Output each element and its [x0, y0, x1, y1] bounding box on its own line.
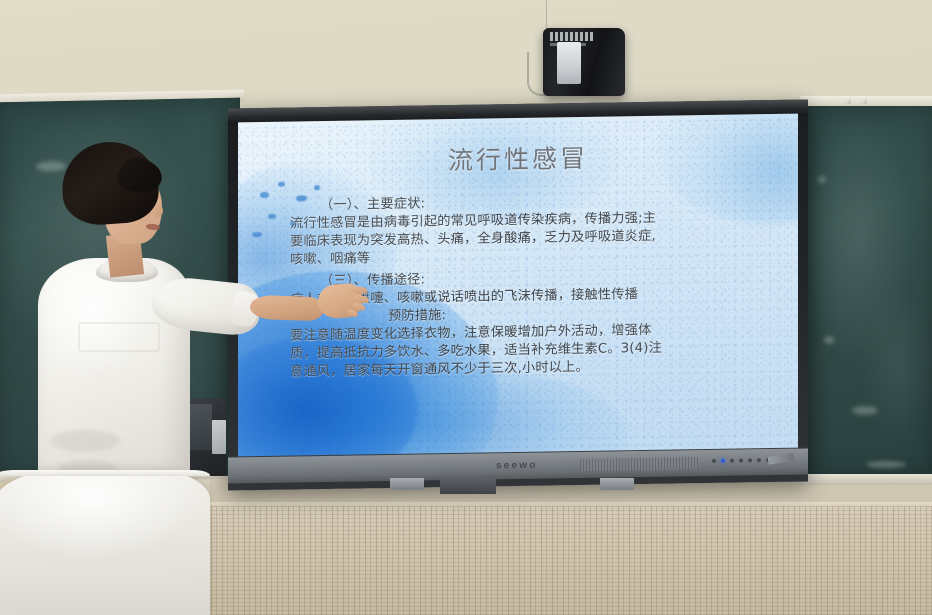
device-lens	[557, 42, 581, 84]
slide-heading-1: （一）、主要症状:	[320, 195, 425, 215]
slide-paragraph-3: 要注意随温度变化选择衣物，注意保暖增加户外活动，增强体 质，提高抵抗力多饮水、多…	[290, 322, 662, 382]
wall-bracket	[600, 478, 634, 490]
indicator-led	[748, 458, 752, 462]
display-screen[interactable]: 流行性感冒 （一）、主要症状: 流行性感冒是由病毒引起的常见呼吸道传染疾病，传播…	[238, 114, 798, 463]
blackboard-right	[806, 106, 932, 478]
ceiling-projector-device	[543, 28, 625, 96]
indicator-led	[757, 458, 761, 462]
device-brand-label	[550, 32, 594, 41]
display-mount-stand	[440, 478, 496, 494]
stylus-pen[interactable]	[768, 453, 795, 465]
slide-paragraph-1: 流行性感冒是由病毒引起的常见呼吸道传染疾病，传播力强;主 要临床表现为突发高热、…	[290, 210, 656, 270]
chalk-tray-right	[798, 474, 932, 485]
classroom-photo: 流行性感冒 （一）、主要症状: 流行性感冒是由病毒引起的常见呼吸道传染疾病，传播…	[0, 0, 932, 615]
frame-screw	[862, 99, 867, 104]
acoustic-wall-panel	[200, 506, 932, 615]
indicator-led-active	[721, 459, 725, 463]
frame-screw	[846, 99, 851, 104]
ceiling-wire	[546, 0, 547, 30]
indicator-led	[739, 458, 743, 462]
indicator-led	[712, 459, 716, 463]
seewo-brand-logo: seewo	[496, 453, 538, 480]
indicator-led	[730, 459, 734, 463]
lectern-podium[interactable]	[0, 470, 210, 615]
lectern-top-edge	[0, 470, 210, 476]
slide-content: 流行性感冒 （一）、主要症状: 流行性感冒是由病毒引起的常见呼吸道传染疾病，传播…	[238, 114, 798, 463]
pointing-hand	[317, 283, 363, 320]
slide-title: 流行性感冒	[238, 136, 798, 181]
indicator-led-row[interactable]	[712, 458, 770, 463]
sweatshirt-logo	[78, 322, 160, 352]
slide-heading-3: 预防措施:	[388, 307, 446, 326]
forearm	[250, 295, 325, 322]
speaker-grille	[580, 457, 698, 471]
wall-bracket	[390, 478, 424, 490]
